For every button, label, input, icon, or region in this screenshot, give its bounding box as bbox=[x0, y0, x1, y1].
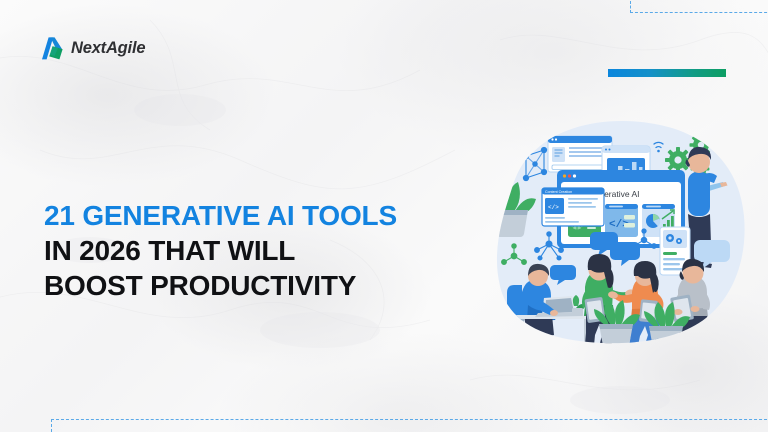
dashed-corner-frame-bottom-left bbox=[51, 419, 768, 432]
dashed-corner-frame-top-right bbox=[630, 0, 768, 13]
banner-canvas: NextAgile 21 Generative AI Tools in 2026… bbox=[0, 0, 768, 432]
nextagile-lambda-arrow-logo-icon bbox=[40, 36, 64, 61]
brand-logo[interactable]: NextAgile bbox=[40, 36, 145, 61]
svg-text:Content Creation: Content Creation bbox=[545, 190, 572, 194]
headline-line-1: 21 Generative AI Tools bbox=[44, 198, 474, 233]
floating-content-creation-window: Content Creation </> bbox=[542, 188, 604, 226]
page-title: 21 Generative AI Tools in 2026 That Will… bbox=[44, 198, 474, 303]
hero-illustration: Generative AI bbox=[482, 110, 762, 355]
svg-text:</>: </> bbox=[548, 204, 559, 211]
headline-line-3: Boost Productivity bbox=[44, 268, 474, 303]
headline-line-2: in 2026 That Will bbox=[44, 233, 474, 268]
brand-name: NextAgile bbox=[71, 39, 145, 58]
wifi-icon bbox=[732, 153, 748, 168]
gradient-accent-bar bbox=[608, 69, 726, 77]
